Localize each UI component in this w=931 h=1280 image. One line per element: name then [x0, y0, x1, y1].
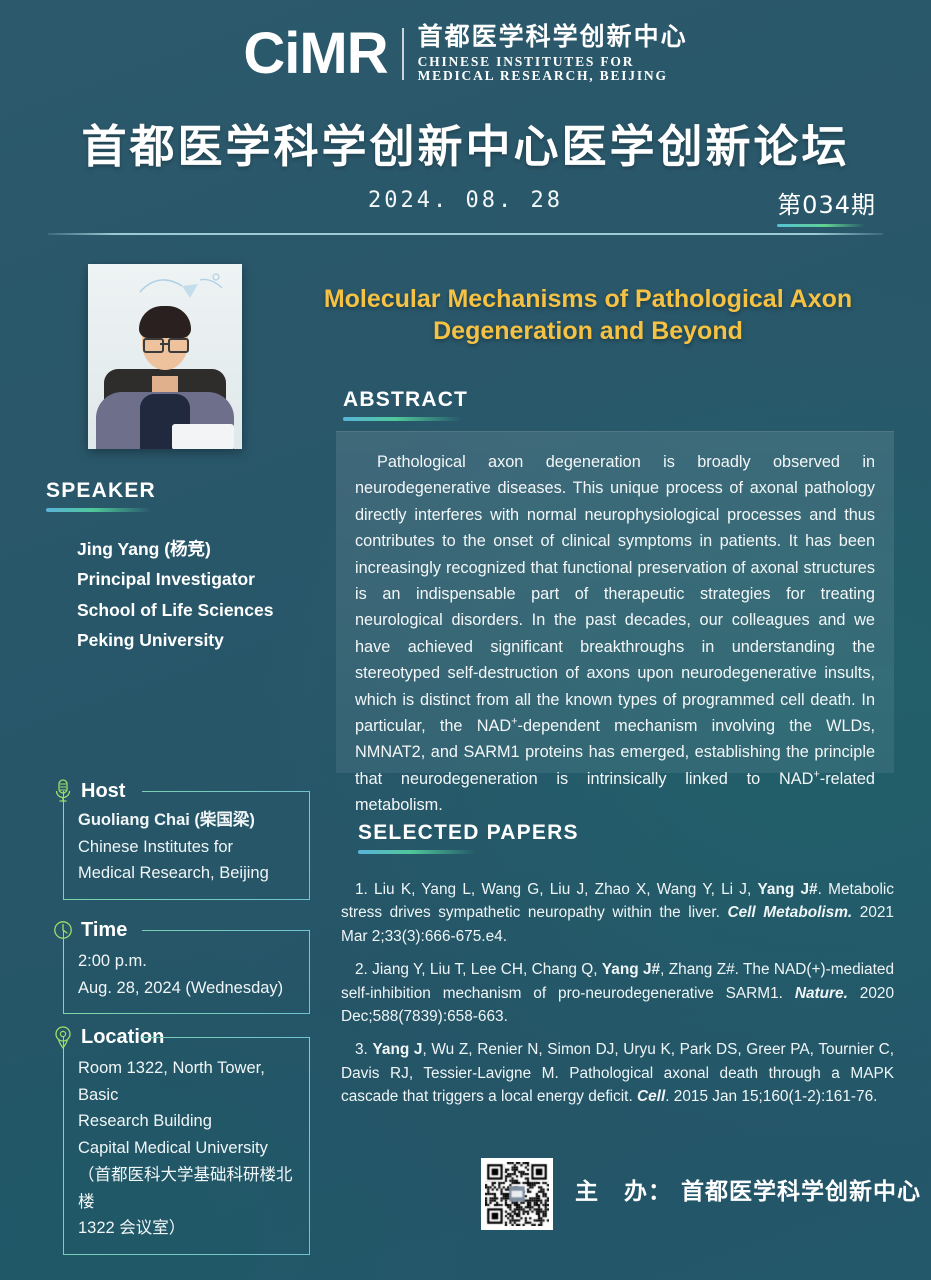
- location-line5: 1322 会议室）: [78, 1215, 299, 1242]
- papers-heading-underline: [358, 850, 476, 854]
- host-affiliation-line2: Medical Research, Beijing: [78, 860, 299, 887]
- logo-row: CiMR 首都医学科学创新中心 CHINESE INSTITUTES FOR M…: [0, 24, 931, 84]
- paper-item: 2. Jiang Y, Liu T, Lee CH, Chang Q, Yang…: [341, 958, 894, 1028]
- organizer-mid: 办：: [624, 1179, 672, 1205]
- location-info-box: Location Room 1322, North Tower, Basic R…: [52, 1024, 310, 1255]
- poster-root: CiMR 首都医学科学创新中心 CHINESE INSTITUTES FOR M…: [0, 0, 931, 1280]
- cimr-logo: CiMR 首都医学科学创新中心 CHINESE INSTITUTES FOR M…: [243, 24, 687, 84]
- talk-title: Molecular Mechanisms of Pathological Axo…: [282, 283, 894, 347]
- organizer-prefix: 主: [575, 1179, 624, 1205]
- forum-title: 首都医学科学创新中心医学创新论坛: [0, 110, 931, 175]
- host-affiliation-line1: Chinese Institutes for: [78, 834, 299, 861]
- organizer-name: 首都医学科学创新中心: [681, 1179, 921, 1205]
- time-line2: Aug. 28, 2024 (Wednesday): [78, 975, 299, 1002]
- papers-heading: SELECTED PAPERS: [358, 821, 579, 845]
- photo-glasses-right: [168, 338, 189, 353]
- host-body: Guoliang Chai (柴国梁) Chinese Institutes f…: [78, 807, 299, 887]
- speaker-photo: [88, 264, 242, 449]
- papers-list: 1. Liu K, Yang L, Wang G, Liu J, Zhao X,…: [341, 878, 894, 1119]
- location-body: Room 1322, North Tower, Basic Research B…: [78, 1055, 299, 1242]
- location-line2: Research Building: [78, 1108, 299, 1135]
- issue-number-block: 第034期: [777, 185, 876, 227]
- paper-item: 3. Yang J, Wu Z, Renier N, Simon DJ, Ury…: [341, 1038, 894, 1108]
- time-line1: 2:00 p.m.: [78, 948, 299, 975]
- location-line4: （首都医科大学基础科研楼北楼: [78, 1162, 299, 1215]
- location-line3: Capital Medical University: [78, 1135, 299, 1162]
- whiteboard-doodle-icon: [136, 272, 228, 302]
- logo-text-block: 首都医学科学创新中心 CHINESE INSTITUTES FOR MEDICA…: [418, 24, 688, 84]
- time-info-box: Time 2:00 p.m. Aug. 28, 2024 (Wednesday): [52, 917, 310, 1014]
- organizer-line: 主办： 首都医学科学创新中心: [575, 1172, 921, 1206]
- photo-laptop: [172, 424, 234, 449]
- speaker-details: Jing Yang (杨竞) Principal Investigator Sc…: [77, 534, 327, 656]
- host-info-box: Host Guoliang Chai (柴国梁) Chinese Institu…: [52, 778, 310, 900]
- speaker-heading-block: SPEAKER: [46, 479, 156, 512]
- header-divider: [48, 233, 883, 235]
- speaker-department: School of Life Sciences: [77, 595, 327, 625]
- time-body: 2:00 p.m. Aug. 28, 2024 (Wednesday): [78, 948, 299, 1001]
- host-name: Guoliang Chai (柴国梁): [78, 807, 299, 834]
- photo-glasses-bridge: [160, 343, 168, 345]
- abstract-heading-block: ABSTRACT: [343, 388, 468, 421]
- photo-glasses-left: [143, 338, 164, 353]
- abstract-panel: Pathological axon degeneration is broadl…: [336, 431, 894, 773]
- abstract-heading: ABSTRACT: [343, 388, 468, 412]
- speaker-title: Principal Investigator: [77, 564, 327, 594]
- host-frame: Guoliang Chai (柴国梁) Chinese Institutes f…: [63, 791, 310, 900]
- speaker-heading-underline: [46, 508, 151, 512]
- speaker-name: Jing Yang (杨竞): [77, 534, 327, 564]
- cimr-wordmark-icon: CiMR: [243, 25, 387, 83]
- location-frame: Room 1322, North Tower, Basic Research B…: [63, 1037, 310, 1255]
- speaker-institution: Peking University: [77, 625, 327, 655]
- logo-chinese-name: 首都医学科学创新中心: [418, 24, 688, 52]
- logo-english-line1: CHINESE INSTITUTES FOR: [418, 55, 688, 70]
- paper-item: 1. Liu K, Yang L, Wang G, Liu J, Zhao X,…: [341, 878, 894, 948]
- issue-number: 第034期: [777, 185, 876, 220]
- abstract-text: Pathological axon degeneration is broadl…: [355, 449, 875, 818]
- qr-code[interactable]: [481, 1158, 553, 1230]
- papers-heading-block: SELECTED PAPERS: [358, 821, 579, 854]
- date-row: 2024. 08. 28 第034期: [0, 188, 931, 228]
- time-frame: 2:00 p.m. Aug. 28, 2024 (Wednesday): [63, 930, 310, 1014]
- photo-hair: [139, 306, 191, 338]
- logo-divider: [402, 28, 404, 80]
- logo-english-line2: MEDICAL RESEARCH, BEIJING: [418, 69, 688, 84]
- speaker-heading: SPEAKER: [46, 479, 156, 503]
- location-line1: Room 1322, North Tower, Basic: [78, 1055, 299, 1108]
- abstract-heading-underline: [343, 417, 461, 421]
- issue-underline: [777, 224, 865, 227]
